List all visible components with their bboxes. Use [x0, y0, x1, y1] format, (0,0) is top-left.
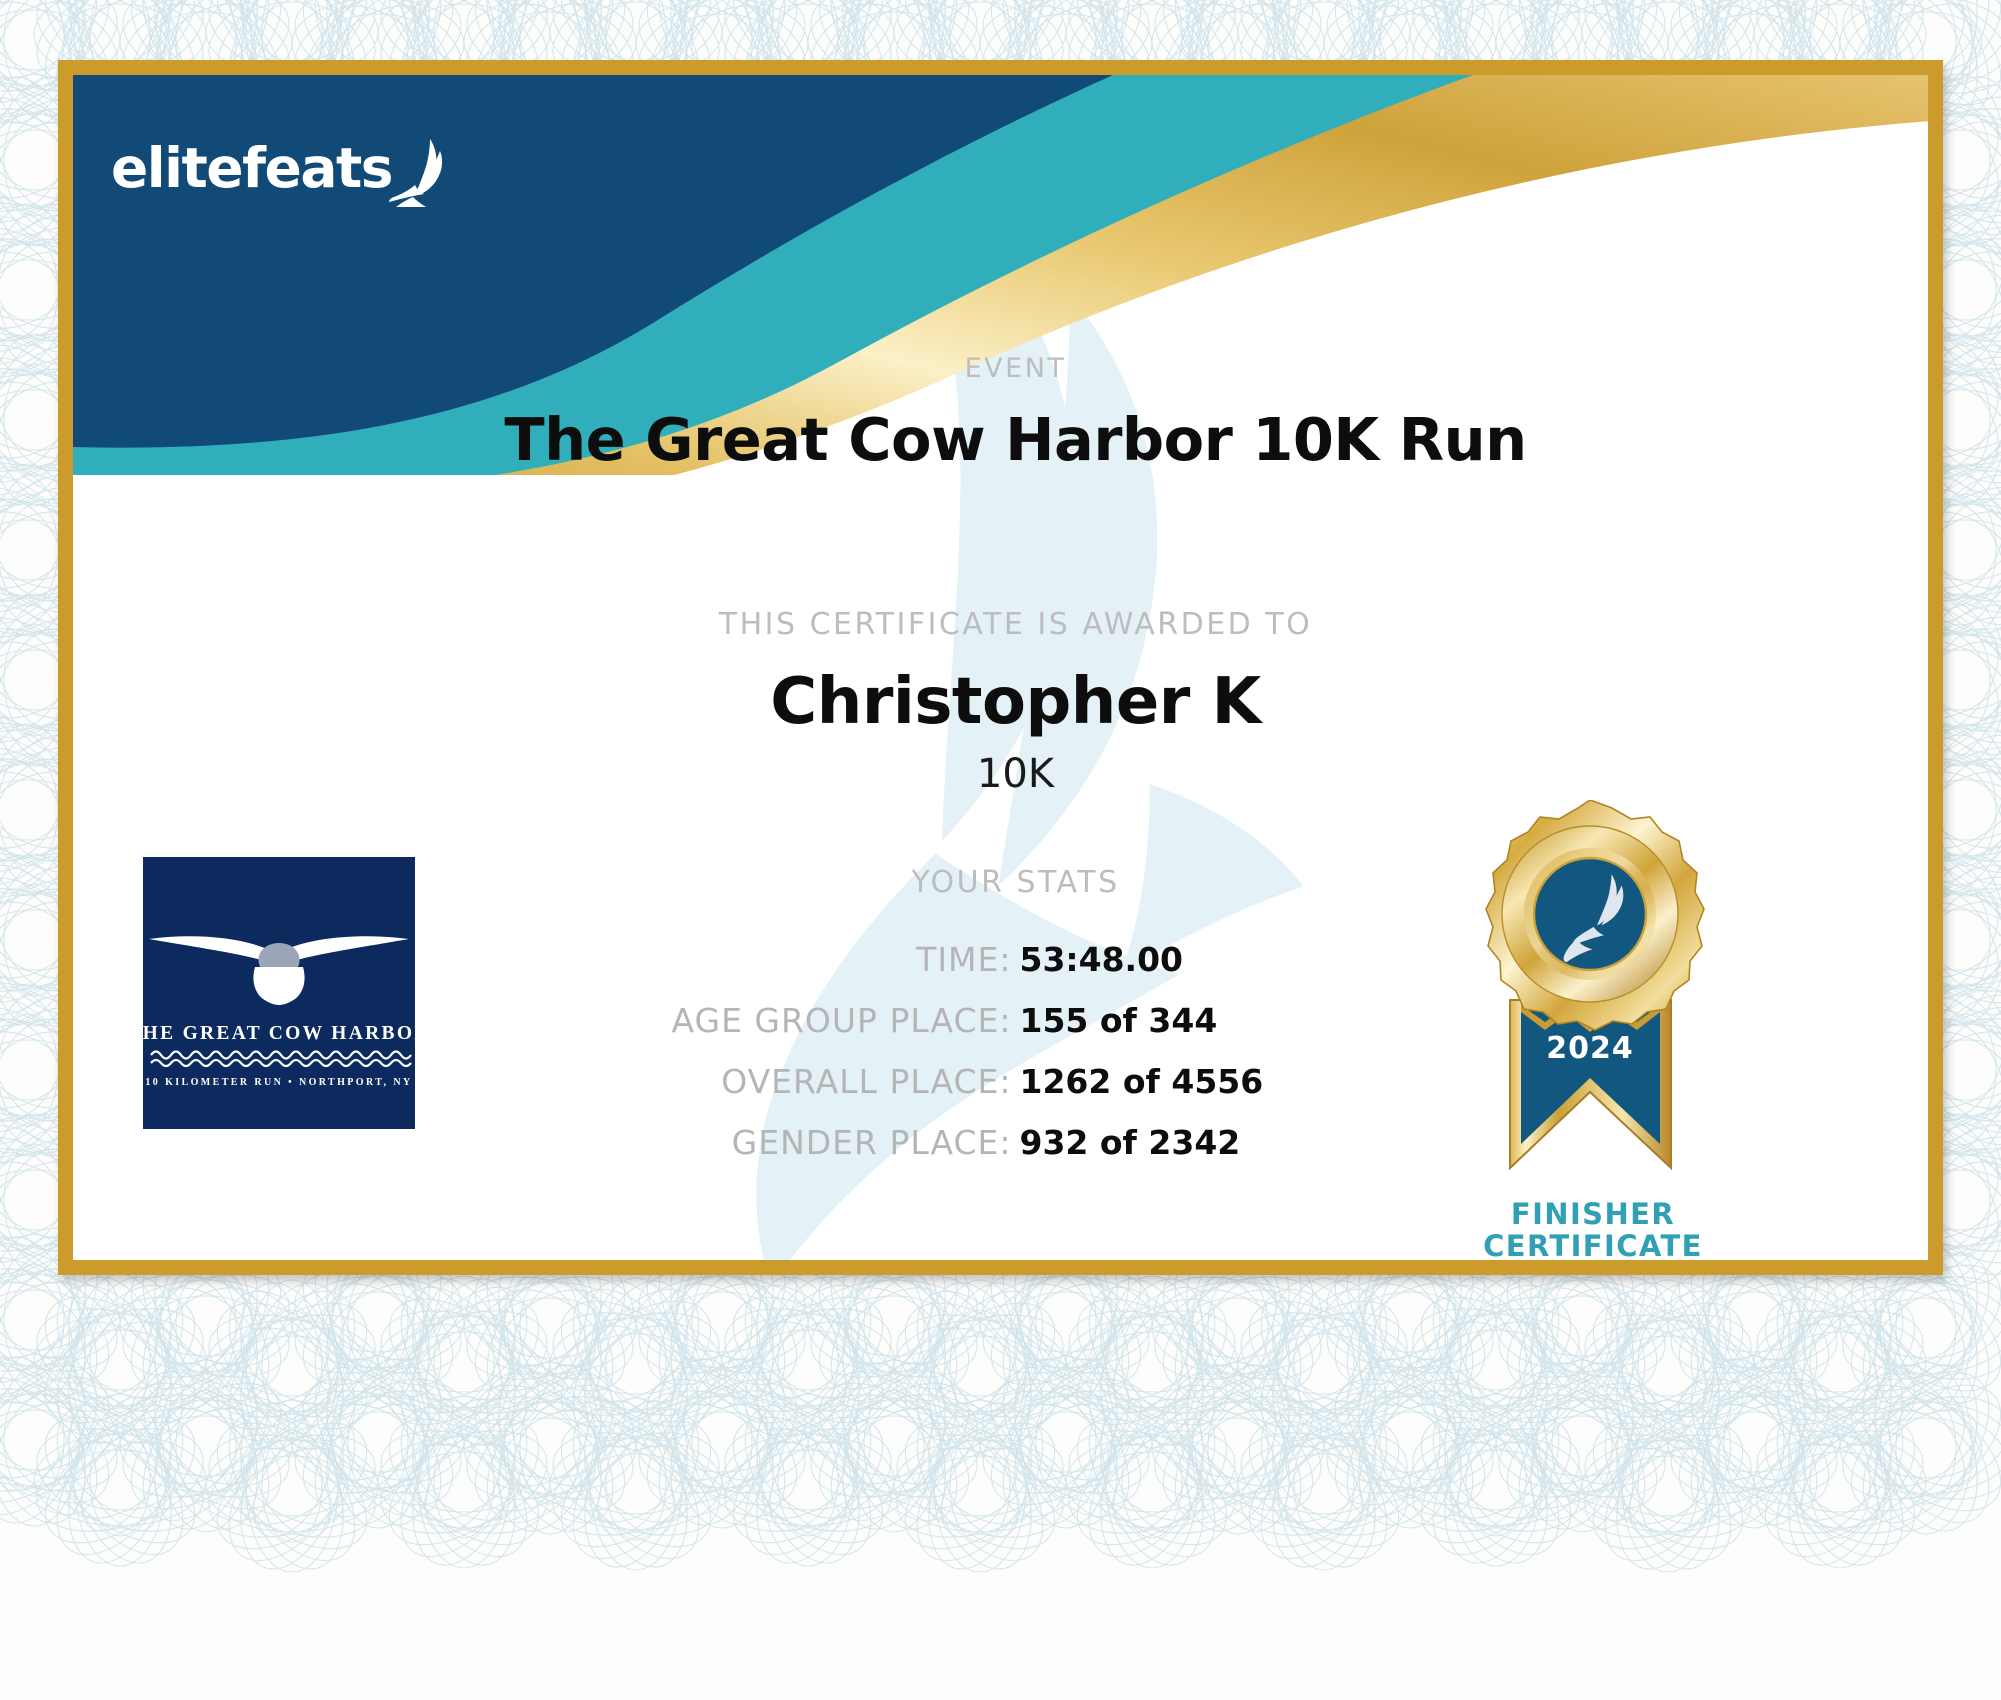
- finisher-medal: 2024: [1463, 800, 1718, 1250]
- certificate-page: elitefeats EVENT The Great Cow Har: [0, 0, 2001, 1700]
- svg-text:THE GREAT COW HARBOR: THE GREAT COW HARBOR: [143, 1023, 415, 1044]
- svg-text:10 KILOMETER RUN • NORTHPORT: 10 KILOMETER RUN • NORTHPORT, NY: [145, 1077, 412, 1088]
- stat-value: 155 of 344: [1020, 1001, 1450, 1040]
- stat-key: AGE GROUP PLACE:: [582, 1001, 1020, 1040]
- event-logo: THE GREAT COW HARBOR 10 KILOMETER RUN • …: [143, 857, 415, 1129]
- medal-year-text: 2024: [1546, 1031, 1634, 1066]
- event-title: The Great Cow Harbor 10K Run: [73, 405, 1928, 474]
- stat-key: OVERALL PLACE:: [582, 1062, 1020, 1101]
- stat-value: 53:48.00: [1020, 940, 1450, 979]
- stat-key: GENDER PLACE:: [582, 1123, 1020, 1162]
- event-label: EVENT: [73, 353, 1928, 384]
- recipient-name: Christopher K: [73, 665, 1928, 739]
- stat-key: TIME:: [582, 940, 1020, 979]
- finisher-certificate-caption: FINISHER CERTIFICATE: [1443, 1198, 1743, 1260]
- awarded-to-label: THIS CERTIFICATE IS AWARDED TO: [73, 607, 1928, 642]
- finisher-caption-line1: FINISHER: [1443, 1198, 1743, 1230]
- stat-value: 932 of 2342: [1020, 1123, 1450, 1162]
- winged-foot-icon: [388, 137, 450, 212]
- race-distance: 10K: [73, 751, 1928, 797]
- elitefeats-logo: elitefeats: [111, 137, 450, 196]
- stat-value: 1262 of 4556: [1020, 1062, 1450, 1101]
- brand-wordmark: elitefeats: [111, 141, 392, 196]
- finisher-caption-line2: CERTIFICATE: [1443, 1230, 1743, 1260]
- certificate-frame: elitefeats EVENT The Great Cow Har: [58, 60, 1943, 1275]
